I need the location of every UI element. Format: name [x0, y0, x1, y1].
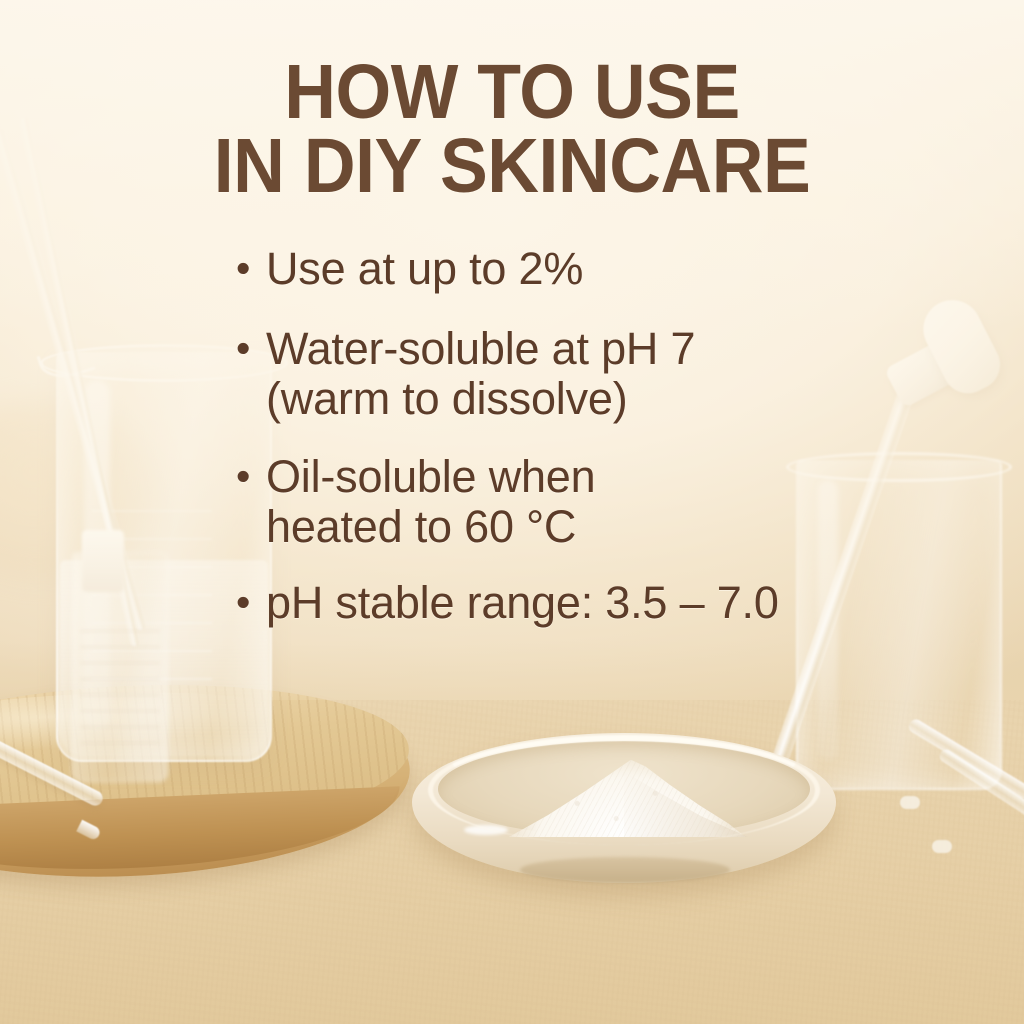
list-item-label: Oil-soluble when heated to 60 °C: [266, 452, 876, 552]
list-item: • Oil-soluble when heated to 60 °C: [236, 452, 876, 552]
list-item-label: Water-soluble at pH 7 (warm to dissolve): [266, 324, 876, 424]
list-item: • pH stable range: 3.5 – 7.0: [236, 578, 876, 628]
usage-bullet-list: • Use at up to 2% • Water-soluble at pH …: [236, 244, 876, 628]
bullet-dot-icon: •: [236, 452, 266, 500]
list-item: • Use at up to 2%: [236, 244, 876, 294]
bullet-dot-icon: •: [236, 244, 266, 292]
list-item: • Water-soluble at pH 7 (warm to dissolv…: [236, 324, 876, 424]
list-item-label: pH stable range: 3.5 – 7.0: [266, 578, 876, 628]
list-item-label: Use at up to 2%: [266, 244, 876, 294]
text-overlay: HOW TO USE IN DIY SKINCARE • Use at up t…: [0, 0, 1024, 1024]
bullet-dot-icon: •: [236, 578, 266, 626]
page-title: HOW TO USE IN DIY SKINCARE: [36, 56, 988, 204]
infographic-tile: HOW TO USE IN DIY SKINCARE • Use at up t…: [0, 0, 1024, 1024]
bullet-dot-icon: •: [236, 324, 266, 372]
